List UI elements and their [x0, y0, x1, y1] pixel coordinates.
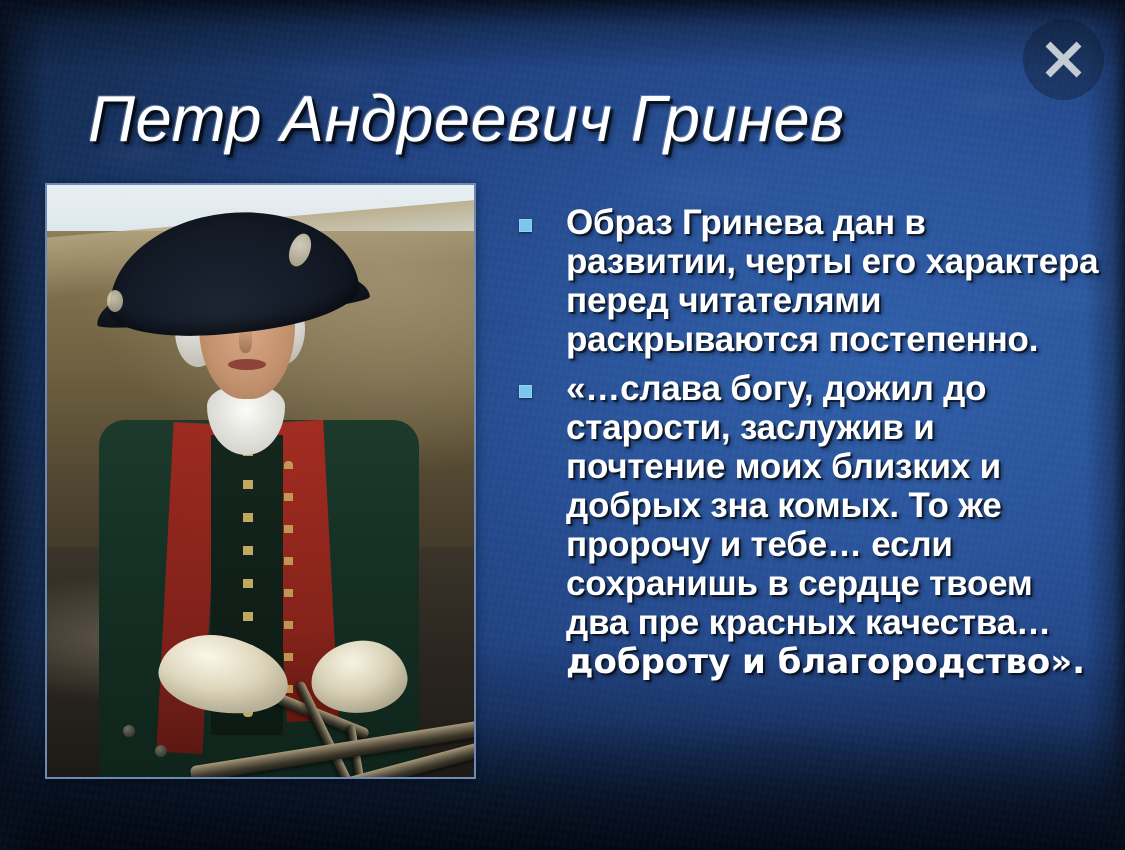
list-item: «…слава богу, дожил до старости, заслужи… — [519, 369, 1099, 683]
photo-mouth — [228, 359, 266, 370]
portrait-image — [45, 183, 476, 779]
close-button[interactable] — [1023, 19, 1104, 100]
slide-body: Образ Гринева дан в развитии, черты его … — [519, 203, 1099, 693]
bullet-text-2-wrapper: «…слава богу, дожил до старости, заслужи… — [566, 369, 1099, 683]
page-title: Петр Андреевич Гринев — [88, 86, 1048, 151]
photo-pocket-button-1 — [123, 725, 135, 737]
square-bullet-icon — [519, 385, 532, 398]
close-icon — [1023, 19, 1104, 100]
photo-hat-corner-tassel — [107, 290, 123, 312]
bullet-text-1: Образ Гринева дан в развитии, черты его … — [566, 203, 1099, 359]
presentation-slide: Петр Андреевич Гринев — [0, 0, 1125, 850]
photo-pocket-button-2 — [155, 745, 167, 757]
bullet-text-2: «…слава богу, дожил до старости, заслужи… — [566, 369, 1051, 642]
list-item: Образ Гринева дан в развитии, черты его … — [519, 203, 1099, 359]
square-bullet-icon — [519, 219, 532, 232]
bullet-text-2-emphasis: доброту и благородство». — [566, 642, 1099, 683]
